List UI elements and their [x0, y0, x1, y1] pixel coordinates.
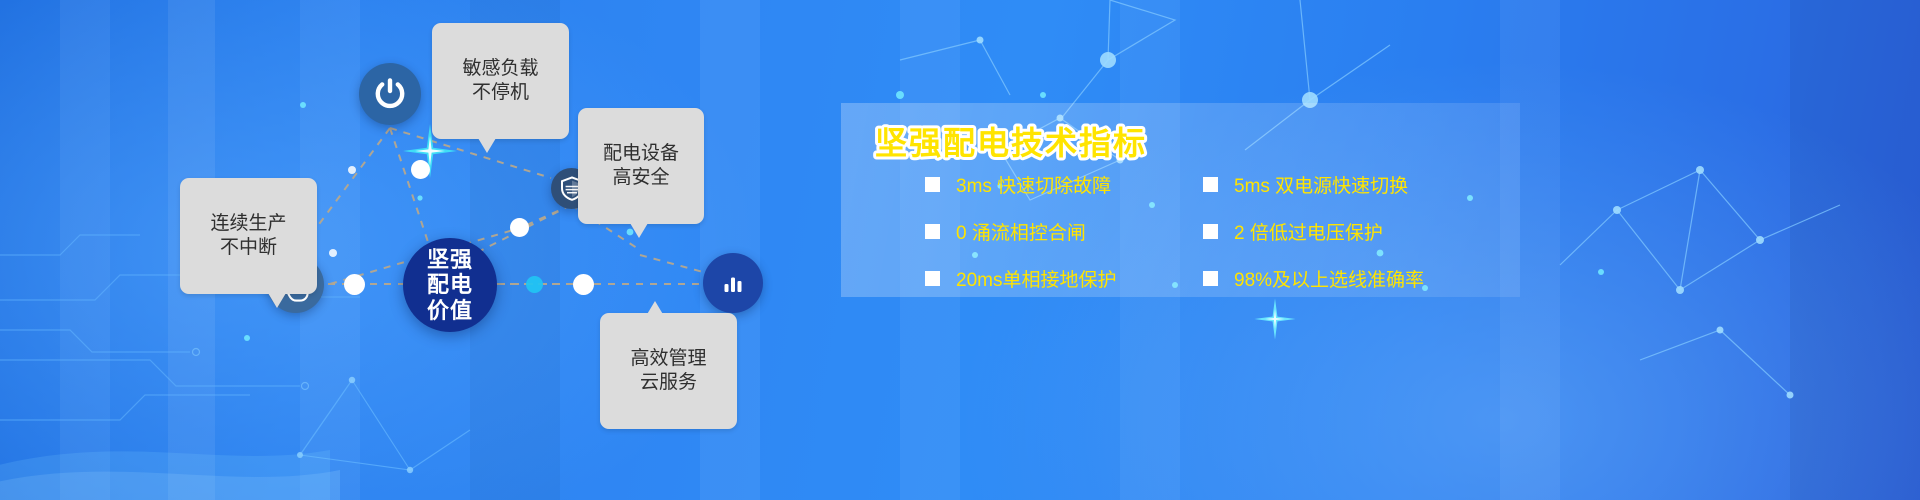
bar-chart-icon [717, 267, 749, 299]
callout-power-equipment-safety[interactable]: 配电设备 高安全 [578, 108, 704, 224]
callout-text: 高效管理 云服务 [630, 348, 706, 393]
indicator-label: 5ms 双电源快速切换 [1234, 171, 1408, 198]
callout-efficient-cloud[interactable]: 高效管理 云服务 [600, 313, 737, 429]
junction-dot [510, 218, 529, 237]
callout-tail [646, 301, 664, 316]
banner-root: 坚强 配电 价值 敏感负载 不停机 配电设备 高安全 连续生产 不中断 高效管理… [0, 0, 1920, 500]
tech-indicator-panel: 坚强配电技术指标 3ms 快速切除故障 5ms 双电源快速切换 0 涌流相控合闸… [841, 103, 1520, 297]
bullet-square-icon [1203, 271, 1218, 286]
junction-dot-accent [526, 276, 543, 293]
indicator-item: 98%及以上选线准确率 [1203, 265, 1521, 292]
bullet-square-icon [1203, 177, 1218, 192]
power-node[interactable] [359, 63, 421, 125]
indicator-item: 20ms单相接地保护 [925, 265, 1203, 292]
panel-title: 坚强配电技术指标 [871, 117, 1231, 169]
callout-tail [268, 293, 286, 308]
junction-dot [344, 274, 365, 295]
junction-dot [573, 274, 594, 295]
indicator-grid: 3ms 快速切除故障 5ms 双电源快速切换 0 涌流相控合闸 2 倍低过电压保… [925, 171, 1521, 292]
bullet-square-icon [925, 177, 940, 192]
panel-title-text: 坚强配电技术指标 [875, 125, 1147, 161]
junction-dot [411, 160, 430, 179]
callout-continuous-production[interactable]: 连续生产 不中断 [180, 178, 317, 294]
callout-text: 配电设备 高安全 [603, 143, 679, 188]
indicator-label: 0 涌流相控合闸 [956, 218, 1086, 245]
indicator-item: 3ms 快速切除故障 [925, 171, 1203, 198]
callout-tail [478, 138, 496, 153]
indicator-label: 3ms 快速切除故障 [956, 171, 1111, 198]
callout-sensitive-load[interactable]: 敏感负载 不停机 [432, 23, 569, 139]
callout-tail [630, 223, 648, 238]
bullet-square-icon [925, 224, 940, 239]
chart-node[interactable] [703, 253, 763, 313]
center-value-circle[interactable]: 坚强 配电 价值 [403, 238, 497, 332]
indicator-item: 2 倍低过电压保护 [1203, 218, 1521, 245]
callout-text: 敏感负载 不停机 [462, 58, 538, 103]
bullet-square-icon [925, 271, 940, 286]
center-value-label: 坚强 配电 价值 [427, 247, 473, 324]
indicator-item: 0 涌流相控合闸 [925, 218, 1203, 245]
indicator-label: 2 倍低过电压保护 [1234, 218, 1383, 245]
indicator-label: 98%及以上选线准确率 [1234, 265, 1424, 292]
power-icon [372, 76, 408, 112]
indicator-label: 20ms单相接地保护 [956, 265, 1116, 292]
indicator-item: 5ms 双电源快速切换 [1203, 171, 1521, 198]
callout-text: 连续生产 不中断 [210, 213, 286, 258]
bullet-square-icon [1203, 224, 1218, 239]
